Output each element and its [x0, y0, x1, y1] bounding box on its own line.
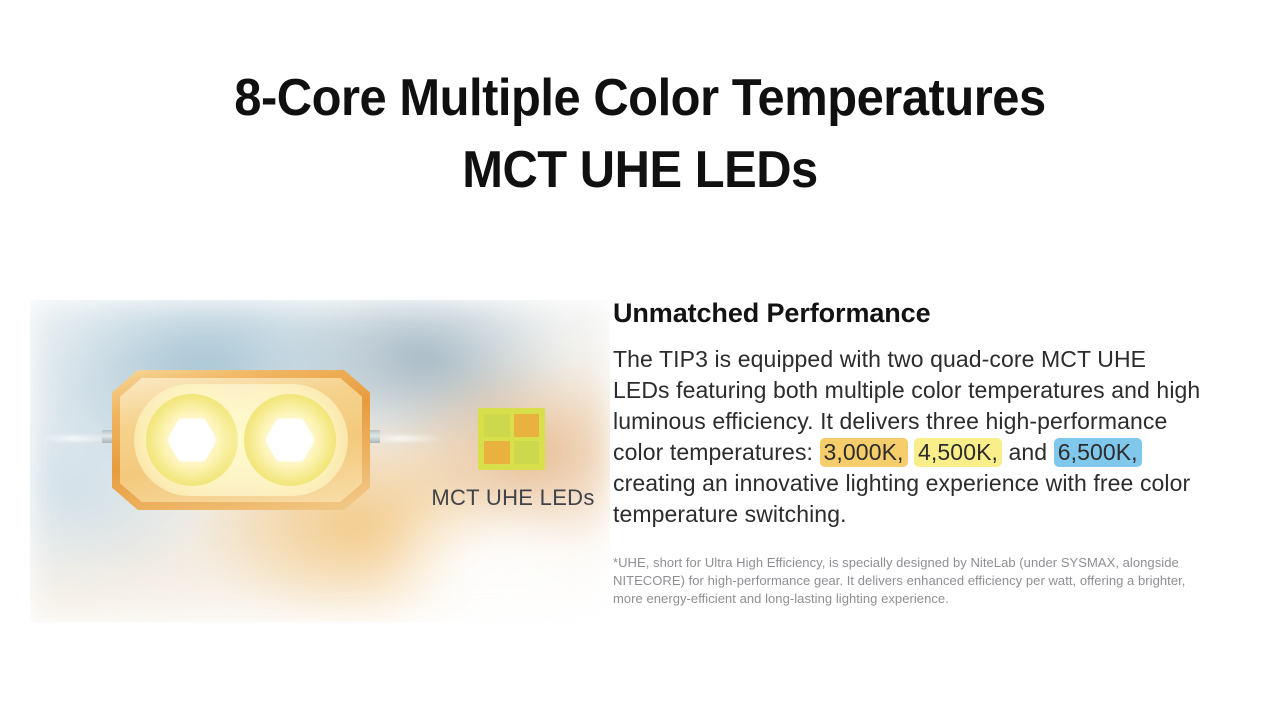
- paragraph-separator-2: and: [1002, 439, 1054, 465]
- led-emitter-core-left: [167, 418, 217, 462]
- led-emitter-left: [146, 394, 238, 486]
- page-title: 8-Core Multiple Color Temperatures MCT U…: [0, 62, 1280, 206]
- led-module-illustration: [112, 370, 370, 510]
- color-temp-mid-highlight: 4,500K,: [914, 438, 1002, 467]
- title-line-2: MCT UHE LEDs: [38, 134, 1241, 206]
- color-temp-cool-highlight: 6,500K,: [1054, 438, 1142, 467]
- led-lens-window: [134, 384, 348, 496]
- chip-quadrant-bottom-right: [514, 441, 540, 464]
- chip-caption: MCT UHE LEDs: [428, 485, 598, 511]
- led-emitter-right: [244, 394, 336, 486]
- led-emitter-core-right: [265, 418, 315, 462]
- footnote-text: *UHE, short for Ultra High Efficiency, i…: [613, 554, 1205, 608]
- slide-root: 8-Core Multiple Color Temperatures MCT U…: [0, 0, 1280, 720]
- color-temp-warm-highlight: 3,000K,: [820, 438, 908, 467]
- paragraph-part-2: creating an innovative lighting experien…: [613, 470, 1190, 527]
- chip-quadrant-top-right: [514, 414, 540, 437]
- chip-quadrant-top-left: [484, 414, 510, 437]
- product-visual-panel: MCT UHE LEDs: [30, 300, 610, 622]
- description-paragraph: The TIP3 is equipped with two quad-core …: [613, 344, 1205, 530]
- chip-quadrant-bottom-left: [484, 441, 510, 464]
- description-column: Unmatched Performance The TIP3 is equipp…: [613, 296, 1205, 621]
- mct-led-chip-illustration: [478, 408, 545, 470]
- section-subheading: Unmatched Performance: [613, 296, 1205, 330]
- title-line-1: 8-Core Multiple Color Temperatures: [38, 62, 1241, 134]
